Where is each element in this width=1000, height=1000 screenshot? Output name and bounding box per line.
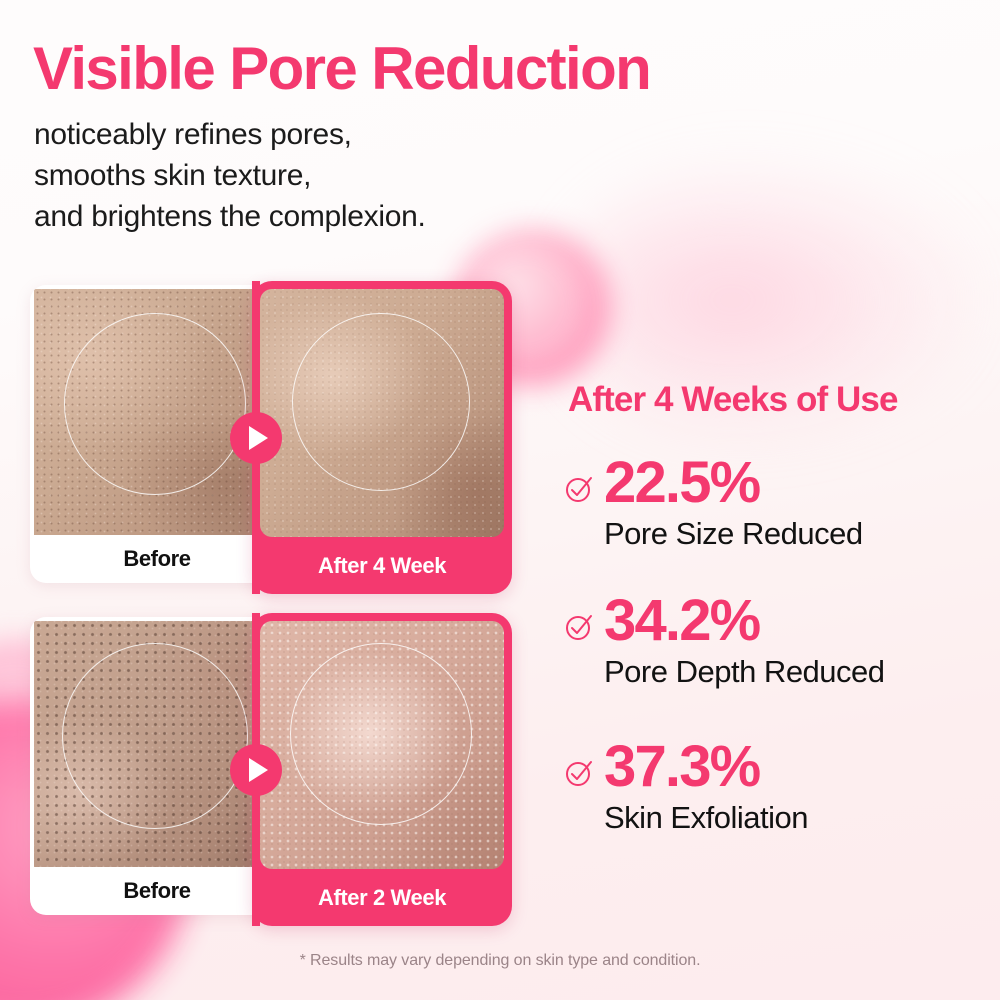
pore-zone-circle <box>62 643 248 829</box>
play-button-2[interactable] <box>230 744 282 796</box>
after-card-2: After 2 Week <box>252 613 512 926</box>
after-caption-2: After 2 Week <box>252 869 512 926</box>
page-subtitle: noticeably refines pores, smooths skin t… <box>34 114 426 237</box>
stat-label: Pore Depth Reduced <box>604 654 885 690</box>
check-circle-icon <box>564 758 594 788</box>
play-icon <box>249 426 268 450</box>
after-skin-photo-2 <box>260 621 504 869</box>
check-circle-icon <box>564 474 594 504</box>
pore-zone-circle <box>292 313 470 491</box>
play-button-1[interactable] <box>230 412 282 464</box>
stat-value: 34.2% <box>604 592 759 650</box>
subtitle-line-1: noticeably refines pores, <box>34 114 426 155</box>
subtitle-line-2: smooths skin texture, <box>34 155 426 196</box>
stat-label: Pore Size Reduced <box>604 516 863 552</box>
disclaimer-footnote: * Results may vary depending on skin typ… <box>0 952 1000 970</box>
after-caption-1: After 4 Week <box>252 537 512 594</box>
stat-value: 37.3% <box>604 738 759 796</box>
before-caption-1: Before <box>30 535 284 583</box>
after-skin-photo-1 <box>260 289 504 537</box>
check-circle-icon <box>564 612 594 642</box>
after-card-1: After 4 Week <box>252 281 512 594</box>
pore-zone-circle <box>290 643 472 825</box>
before-caption-2: Before <box>30 867 284 915</box>
results-heading: After 4 Weeks of Use <box>568 380 898 420</box>
subtitle-line-3: and brightens the complexion. <box>34 196 426 237</box>
page-title: Visible Pore Reduction <box>33 37 650 100</box>
pore-zone-circle <box>64 313 246 495</box>
stat-value: 22.5% <box>604 454 759 512</box>
stat-label: Skin Exfoliation <box>604 800 808 836</box>
promo-poster: Visible Pore Reduction noticeably refine… <box>0 0 1000 1000</box>
before-skin-photo-1 <box>34 289 284 535</box>
before-skin-photo-2 <box>34 621 284 867</box>
play-icon <box>249 758 268 782</box>
